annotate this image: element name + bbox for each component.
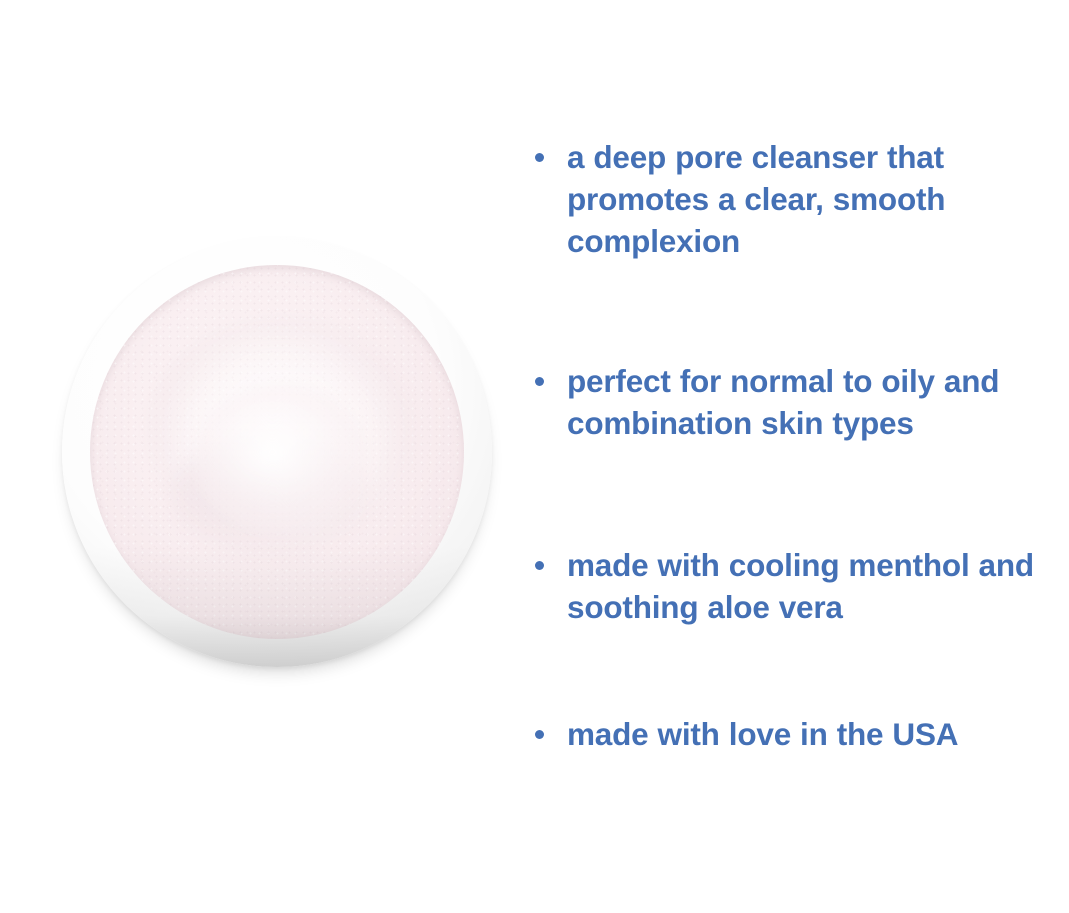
list-item: a deep pore cleanser that promotes a cle… <box>528 136 1069 262</box>
feature-text: perfect for normal to oily and combinati… <box>567 360 1069 444</box>
list-item: made with love in the USA <box>528 713 1069 755</box>
feature-text: made with cooling menthol and soothing a… <box>567 544 1069 628</box>
jar-rim <box>62 237 492 667</box>
product-feature-panel: a deep pore cleanser that promotes a cle… <box>0 0 1069 913</box>
bullet-point-icon <box>535 561 544 570</box>
feature-text: a deep pore cleanser that promotes a cle… <box>567 136 1069 262</box>
feature-text: made with love in the USA <box>567 713 1069 755</box>
list-spacer <box>528 444 1069 544</box>
product-image <box>62 237 492 667</box>
bullet-point-icon <box>535 730 544 739</box>
bullet-point-icon <box>535 377 544 386</box>
list-item: perfect for normal to oily and combinati… <box>528 360 1069 444</box>
bullet-point-icon <box>535 153 544 162</box>
list-spacer <box>528 262 1069 360</box>
list-spacer <box>528 628 1069 713</box>
list-item: made with cooling menthol and soothing a… <box>528 544 1069 628</box>
feature-list: a deep pore cleanser that promotes a cle… <box>528 136 1069 755</box>
jar-rim-shading <box>62 237 492 667</box>
